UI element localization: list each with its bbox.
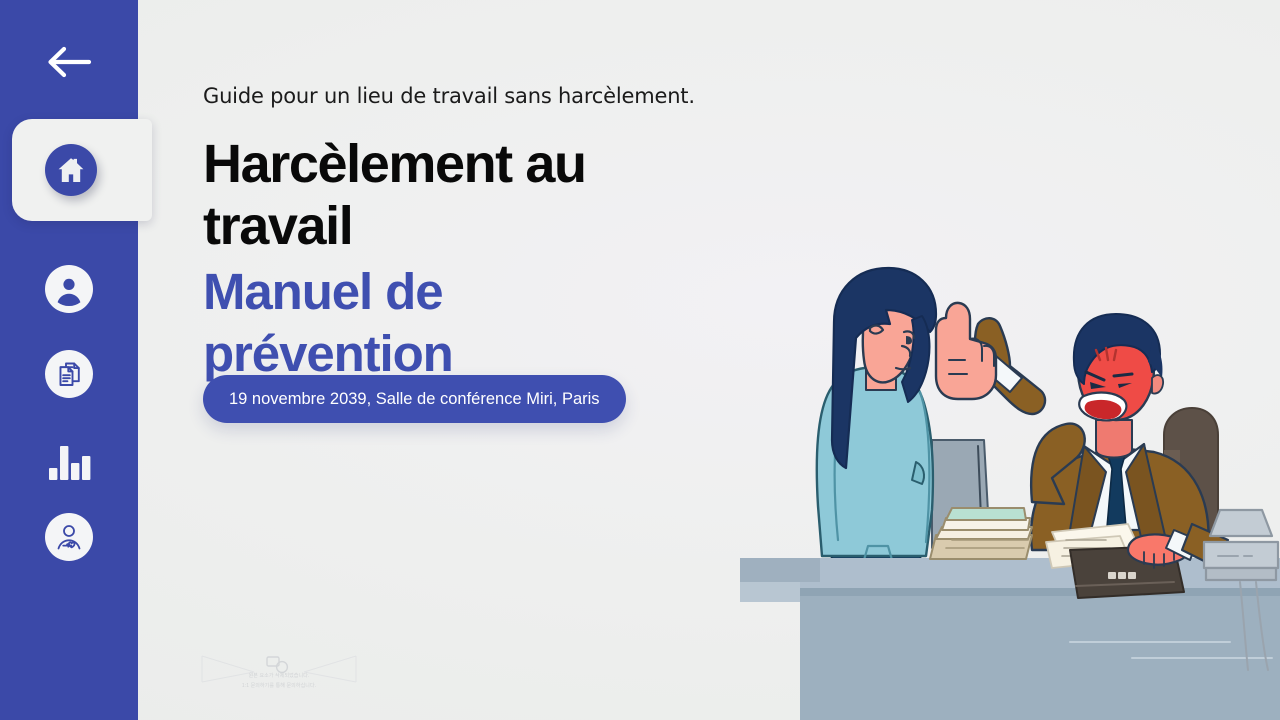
event-details-pill[interactable]: 19 novembre 2039, Salle de conférence Mi… xyxy=(203,375,626,423)
sidebar-item-statistics[interactable] xyxy=(44,437,94,487)
arrow-left-icon xyxy=(44,44,94,80)
user-icon xyxy=(49,269,89,309)
sidebar-item-statistics-wrap xyxy=(45,438,93,486)
page-title: Harcèlement au travail xyxy=(203,134,673,257)
slide-canvas: Guide pour un lieu de travail sans harcè… xyxy=(0,0,1280,720)
sidebar-item-documents-circle xyxy=(45,350,93,398)
title-block: Guide pour un lieu de travail sans harcè… xyxy=(203,0,803,720)
home-icon xyxy=(56,155,86,185)
sidebar xyxy=(0,0,138,720)
documents-icon xyxy=(49,354,89,394)
sidebar-item-wellbeing-circle xyxy=(45,513,93,561)
workplace-harassment-illustration xyxy=(740,250,1280,720)
back-arrow-button[interactable] xyxy=(44,44,94,80)
overline-text: Guide pour un lieu de travail sans harcè… xyxy=(203,84,695,108)
sidebar-item-home-badge xyxy=(45,144,97,196)
bar-chart-icon xyxy=(46,442,92,482)
sidebar-item-wellbeing[interactable] xyxy=(44,512,94,562)
sidebar-item-user[interactable] xyxy=(44,264,94,314)
sidebar-item-home[interactable] xyxy=(12,119,152,221)
page-subtitle: Manuel de prévention xyxy=(203,261,673,383)
sidebar-item-user-circle xyxy=(45,265,93,313)
person-heart-icon xyxy=(49,517,89,557)
sidebar-item-documents[interactable] xyxy=(44,349,94,399)
